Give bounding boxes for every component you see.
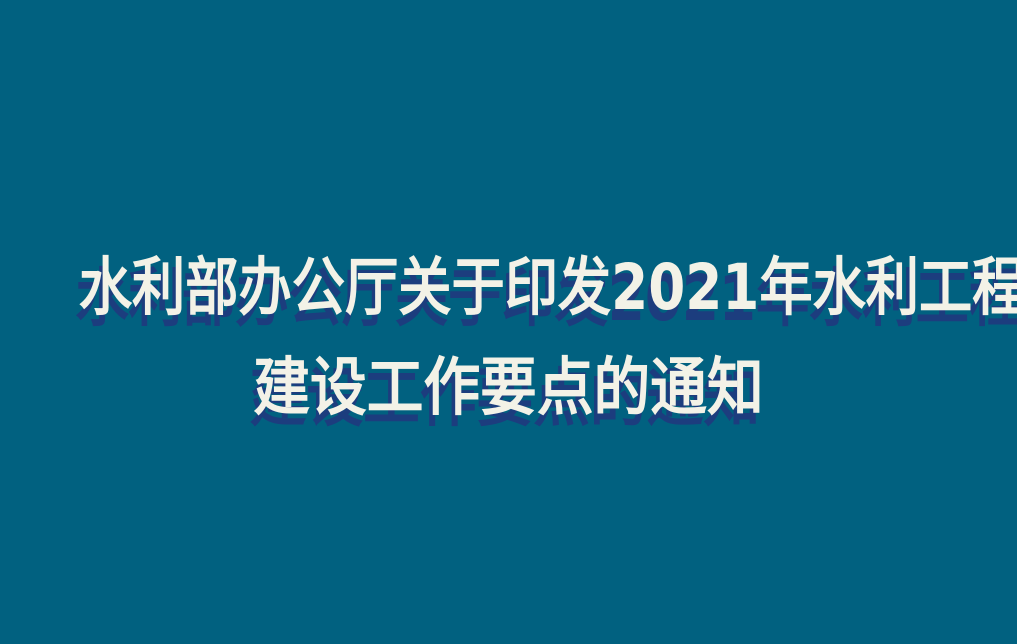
- title-banner: 水利部办公厅关于印发2021年水利工程 建设工作要点的通知: [0, 0, 1017, 644]
- title-line-1: 水利部办公厅关于印发2021年水利工程: [79, 238, 938, 338]
- title-line-2: 建设工作要点的通知: [51, 338, 966, 438]
- title-block: 水利部办公厅关于印发2021年水利工程 建设工作要点的通知: [0, 238, 1017, 438]
